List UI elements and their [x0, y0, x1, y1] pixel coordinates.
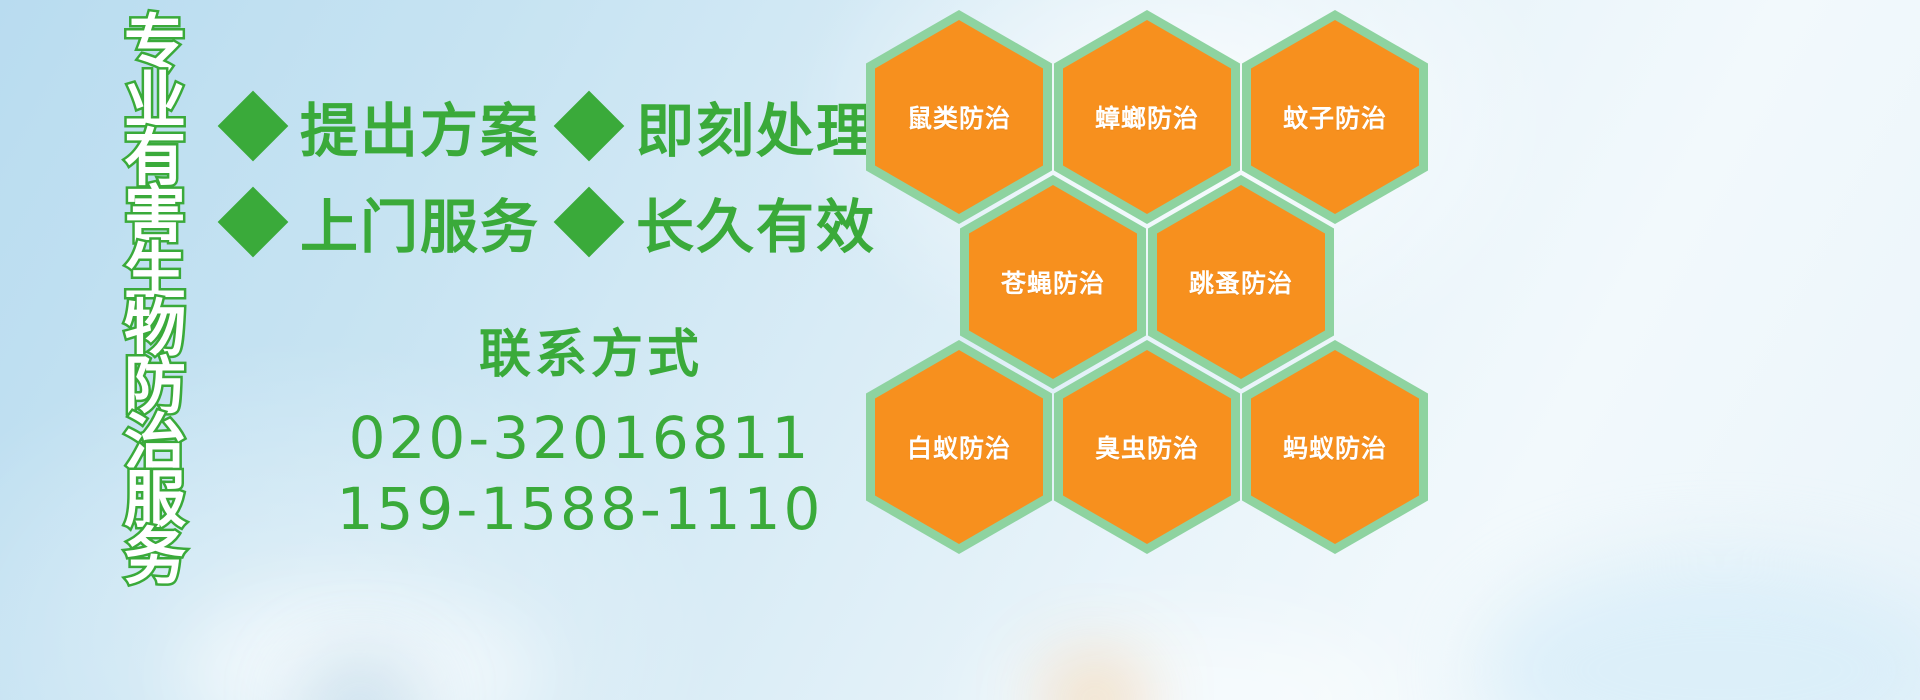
service-label: 臭虫防治: [1095, 429, 1199, 465]
contact-block: 联系方式 020-32016811 159-1588-1110: [300, 312, 860, 545]
hexagon-inner: 跳蚤防治: [1157, 185, 1325, 379]
slogan-text: 即刻处理: [636, 84, 876, 168]
service-hexagon-grid: 鼠类防治 蟑螂防治 蚊子防治 苍蝇防治 跳蚤防治 白蚁防治: [858, 0, 1458, 580]
diamond-icon: [218, 187, 289, 258]
hexagon-inner: 臭虫防治: [1063, 350, 1231, 544]
vertical-title-char: 务: [124, 527, 186, 584]
pest-control-banner: 专 业 有 害 生 物 防 治 服 务 提出方案 即刻处理 上门服务 长久有效 …: [0, 0, 1920, 700]
background-haze-orange: [1050, 660, 1140, 700]
hexagon-inner: 苍蝇防治: [969, 185, 1137, 379]
service-label: 苍蝇防治: [1001, 264, 1105, 300]
contact-phone-mobile[interactable]: 159-1588-1110: [300, 474, 860, 545]
hexagon-inner: 蚊子防治: [1251, 20, 1419, 214]
vertical-title-char: 业: [124, 71, 186, 128]
contact-phone-landline[interactable]: 020-32016811: [300, 403, 860, 474]
background-haze-right: [1480, 560, 1920, 700]
diamond-icon: [218, 91, 289, 162]
diamond-icon: [554, 91, 625, 162]
vertical-title-char: 害: [124, 185, 186, 242]
vertical-title-char: 治: [124, 413, 186, 470]
slogan-row: 提出方案 即刻处理: [228, 78, 868, 174]
hexagon-inner: 鼠类防治: [875, 20, 1043, 214]
vertical-title-char: 专: [124, 14, 186, 71]
slogan-list: 提出方案 即刻处理 上门服务 长久有效: [228, 78, 868, 270]
slogan-text: 上门服务: [300, 180, 540, 264]
slogan-text: 长久有效: [636, 180, 876, 264]
service-label: 白蚁防治: [907, 429, 1011, 465]
hexagon-inner: 蟑螂防治: [1063, 20, 1231, 214]
service-label: 鼠类防治: [907, 99, 1011, 135]
background-haze-left: [180, 600, 540, 700]
contact-title: 联系方式: [322, 312, 860, 387]
slogan-row: 上门服务 长久有效: [228, 174, 868, 270]
vertical-title-char: 有: [124, 128, 186, 185]
slogan-text: 提出方案: [300, 84, 540, 168]
vertical-title-char: 服: [124, 470, 186, 527]
service-label: 蚂蚁防治: [1283, 429, 1387, 465]
vertical-title-char: 防: [124, 356, 186, 413]
hexagon-inner: 蚂蚁防治: [1251, 350, 1419, 544]
background-haze-center: [980, 620, 1400, 700]
service-label: 跳蚤防治: [1189, 264, 1293, 300]
vertical-title-char: 物: [124, 299, 186, 356]
vertical-title: 专 业 有 害 生 物 防 治 服 务: [107, 14, 203, 584]
service-label: 蚊子防治: [1283, 99, 1387, 135]
background-haze-left-small: [300, 660, 420, 700]
diamond-icon: [554, 187, 625, 258]
hexagon-inner: 白蚁防治: [875, 350, 1043, 544]
service-label: 蟑螂防治: [1095, 99, 1199, 135]
vertical-title-char: 生: [124, 242, 186, 299]
